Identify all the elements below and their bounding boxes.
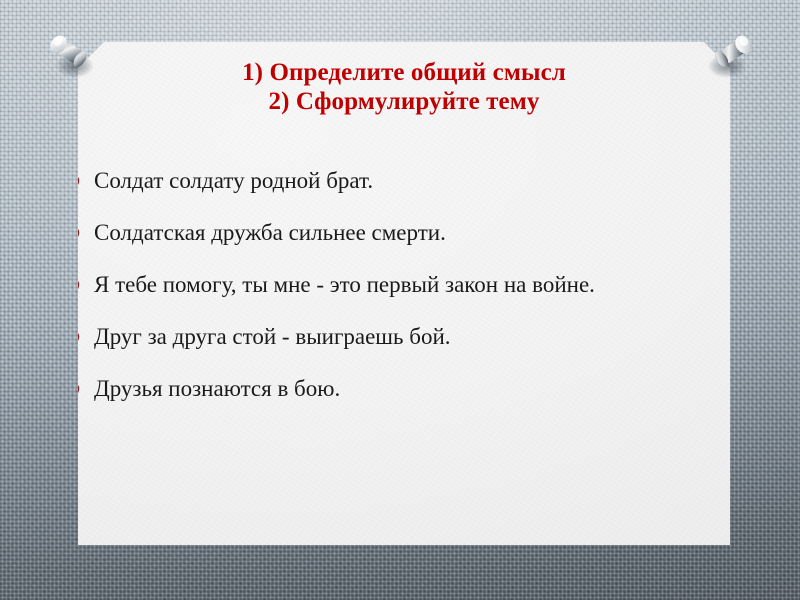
paper-sheet: 1) Определите общий смысл 2) Сформулируй…: [78, 42, 730, 545]
slide-title: 1) Определите общий смысл 2) Сформулируй…: [78, 58, 730, 116]
list-item-label: Друзья познаются в бою.: [94, 376, 340, 402]
list-item-label: Друг за друга стой - выиграешь бой.: [94, 324, 451, 350]
list-item: O Друзья познаются в бою.: [78, 376, 730, 428]
list-item: O Я тебе помогу, ты мне - это первый зак…: [78, 272, 730, 324]
title-line-1: 1) Определите общий смысл: [78, 58, 730, 87]
proverb-list: O Солдат солдату родной брат. O Солдатск…: [78, 168, 730, 428]
list-item-label: Солдат солдату родной брат.: [94, 168, 373, 194]
list-item-label: Солдатская дружба сильнее смерти.: [94, 220, 446, 246]
pushpin-icon: [48, 26, 102, 84]
list-item: O Солдат солдату родной брат.: [78, 168, 730, 220]
title-line-2: 2) Сформулируйте тему: [78, 87, 730, 116]
list-item: O Друг за друга стой - выиграешь бой.: [78, 324, 730, 376]
pushpin-icon: [700, 26, 754, 84]
list-item: O Солдатская дружба сильнее смерти.: [78, 220, 730, 272]
list-item-label: Я тебе помогу, ты мне - это первый закон…: [94, 272, 595, 298]
